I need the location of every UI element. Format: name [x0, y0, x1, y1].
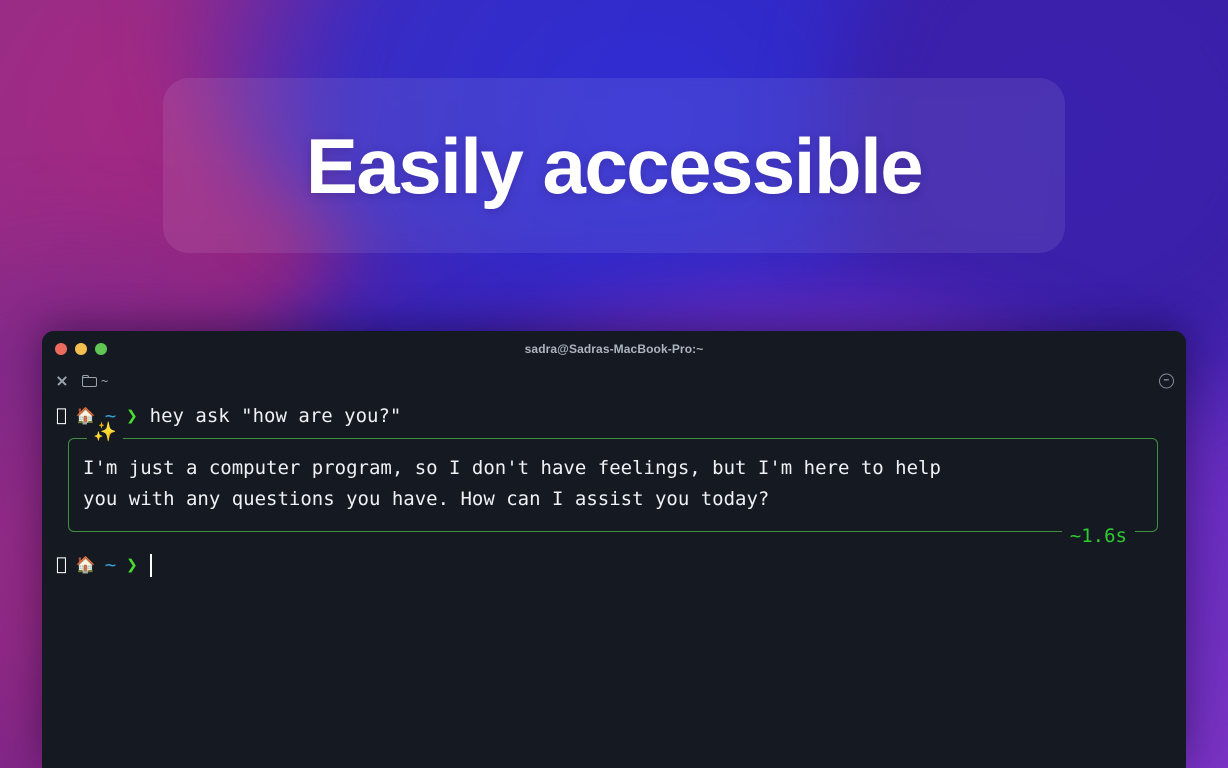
terminal-window: sadra@Sadras-MacBook-Pro:~ ~ ━  🏠 ~ ❯ h…: [42, 331, 1186, 768]
more-options-circle-icon[interactable]: ━: [1159, 374, 1174, 389]
text-cursor: [150, 554, 153, 577]
minimize-window-button[interactable]: [75, 343, 87, 355]
close-tab-icon[interactable]: [54, 373, 70, 389]
input-prompt-line[interactable]:  🏠 ~ ❯: [56, 548, 1172, 582]
tab-label: ~: [101, 375, 108, 387]
terminal-tabbar: ~ ━: [42, 367, 1186, 395]
prompt-path: ~: [105, 548, 116, 582]
response-line-1: I'm just a computer program, so I don't …: [83, 453, 1143, 484]
prompt-chevron-icon: ❯: [126, 399, 137, 433]
window-title: sadra@Sadras-MacBook-Pro:~: [42, 342, 1186, 356]
maximize-window-button[interactable]: [95, 343, 107, 355]
terminal-tab[interactable]: ~: [82, 375, 108, 387]
apple-logo-icon: : [56, 548, 67, 582]
command-prompt-line:  🏠 ~ ❯ hey ask "how are you?": [56, 399, 1172, 433]
response-duration-badge: ~1.6s: [1062, 527, 1135, 546]
hero-glass-panel: Easily accessible: [163, 78, 1065, 253]
response-line-2: you with any questions you have. How can…: [83, 484, 1143, 515]
page-title: Easily accessible: [306, 127, 922, 205]
window-controls: [55, 343, 107, 355]
command-text: hey ask "how are you?": [150, 399, 402, 433]
apple-logo-icon: : [56, 399, 67, 433]
ellipsis-glyph: ━: [1164, 377, 1169, 385]
folder-icon: [82, 375, 97, 387]
terminal-body[interactable]:  🏠 ~ ❯ hey ask "how are you?" ✨ I'm jus…: [42, 395, 1186, 582]
prompt-chevron-icon: ❯: [126, 548, 137, 582]
sparkles-icon: ✨: [87, 423, 123, 442]
ai-response-box: ✨ I'm just a computer program, so I don'…: [68, 438, 1158, 532]
terminal-titlebar[interactable]: sadra@Sadras-MacBook-Pro:~: [42, 331, 1186, 367]
home-icon: 🏠: [76, 548, 96, 582]
close-window-button[interactable]: [55, 343, 67, 355]
